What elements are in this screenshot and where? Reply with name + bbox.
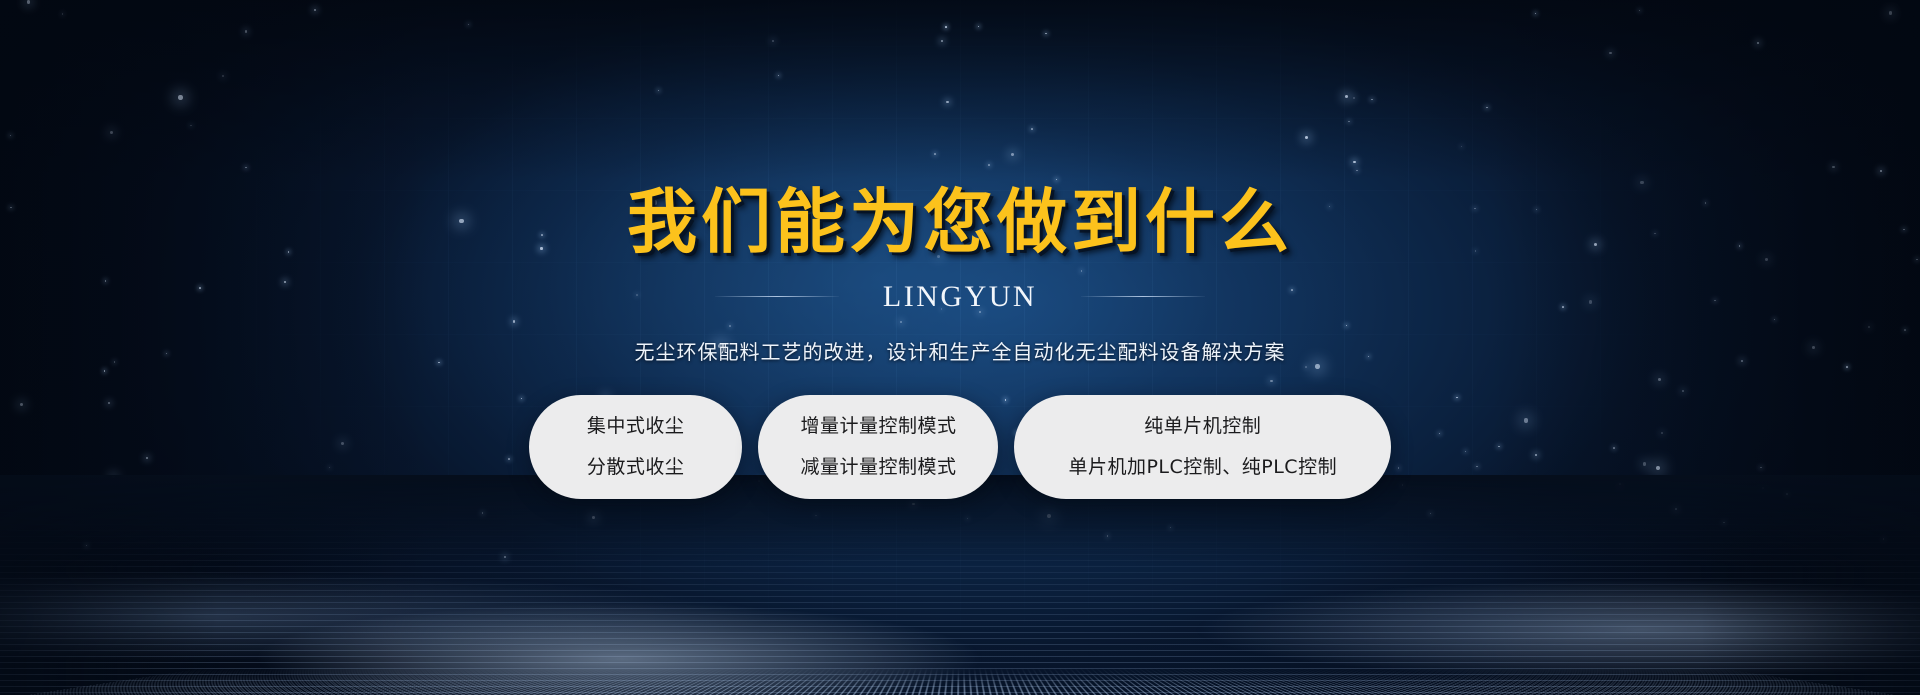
feature-pill-dust-collection[interactable]: 集中式收尘 分散式收尘 [529,395,743,499]
wave-dots [0,668,1920,695]
banner-content: 我们能为您做到什么 LINGYUN 无尘环保配料工艺的改进，设计和生产全自动化无… [0,0,1920,499]
pill-line-secondary: 减量计量控制模式 [800,458,956,477]
divider-line-left [715,296,839,297]
wave-right-fade [1700,475,1920,695]
pill-line-secondary: 单片机加PLC控制、纯PLC控制 [1068,458,1337,477]
pill-line-primary: 纯单片机控制 [1068,417,1337,436]
pill-line-primary: 增量计量控制模式 [800,417,956,436]
banner-description: 无尘环保配料工艺的改进，设计和生产全自动化无尘配料设备解决方案 [0,336,1920,365]
divider-line-right [1081,296,1205,297]
pill-line-primary: 集中式收尘 [587,417,685,436]
feature-pill-group: 集中式收尘 分散式收尘 增量计量控制模式 减量计量控制模式 纯单片机控制 单片机… [0,395,1920,499]
particle-wave-field [0,475,1920,695]
wave-perspective-layer [0,668,1920,695]
wave-left-fade [0,475,220,695]
brand-name: LINGYUN [883,280,1037,314]
page-title: 我们能为您做到什么 [0,186,1920,260]
hero-banner: 我们能为您做到什么 LINGYUN 无尘环保配料工艺的改进，设计和生产全自动化无… [0,0,1920,695]
feature-pill-control-system[interactable]: 纯单片机控制 单片机加PLC控制、纯PLC控制 [1014,395,1391,499]
brand-row: LINGYUN [0,280,1920,314]
pill-line-secondary: 分散式收尘 [587,458,685,477]
feature-pill-metering-mode[interactable]: 增量计量控制模式 减量计量控制模式 [758,395,998,499]
